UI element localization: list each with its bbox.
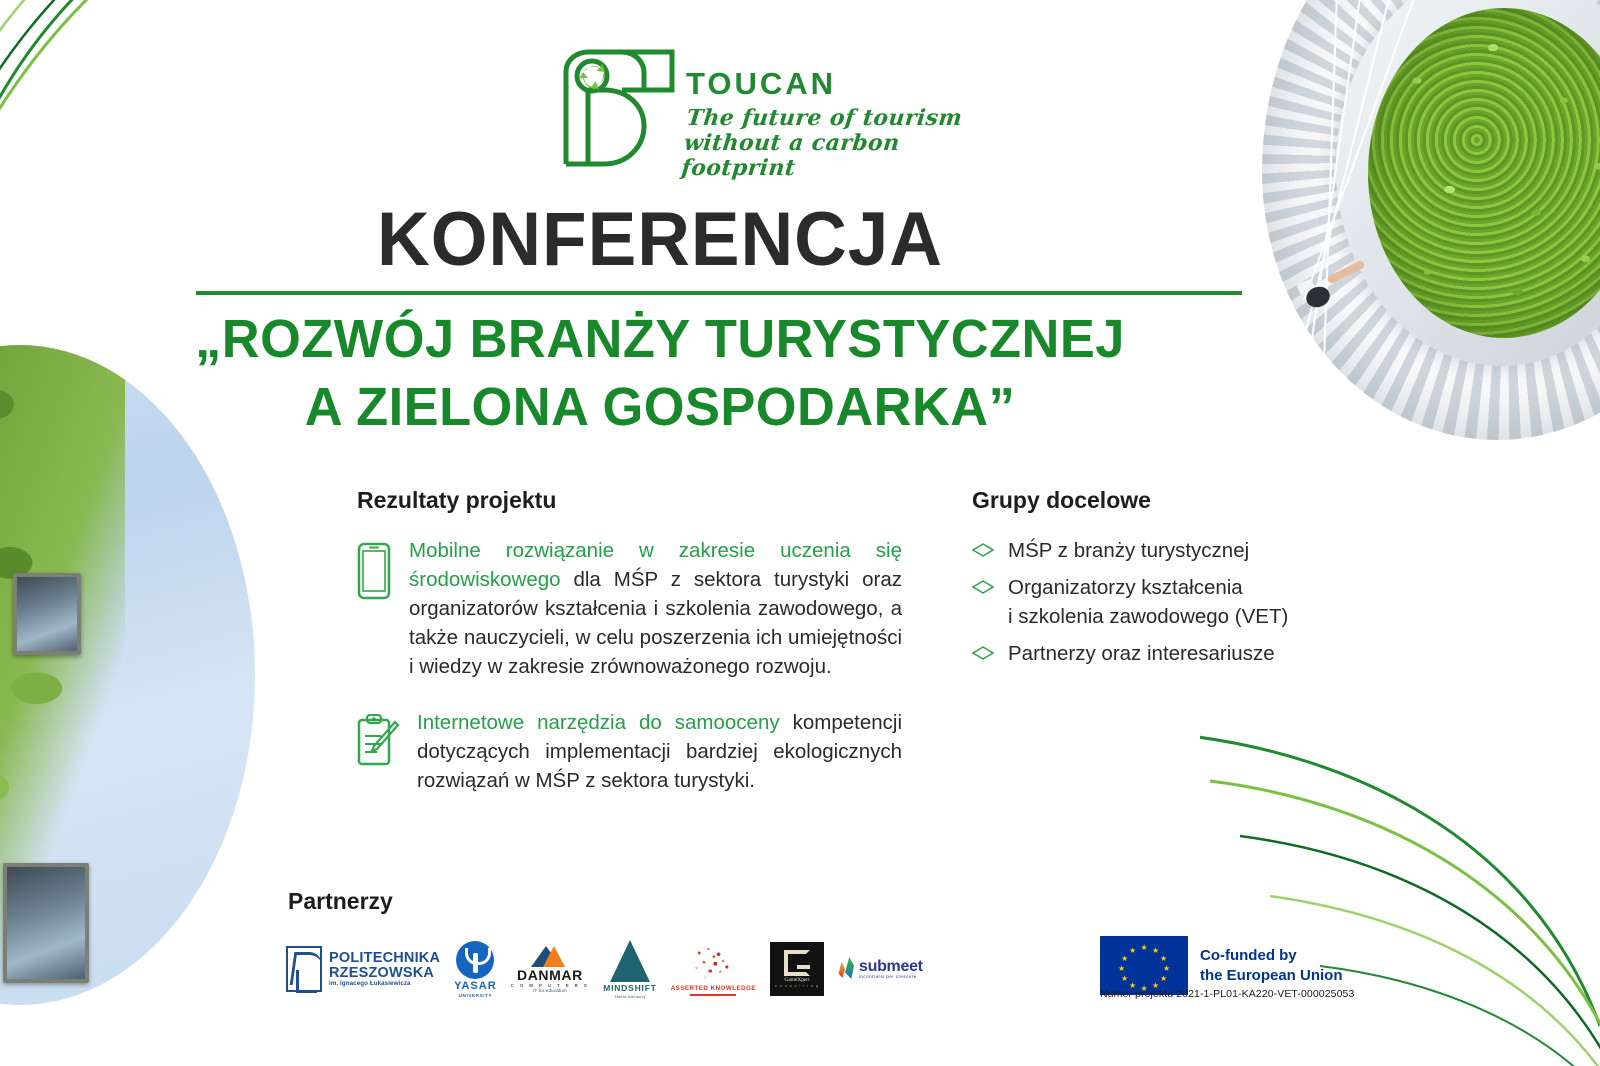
yasar-emblem-icon: [456, 941, 494, 979]
partner-line1: POLITECHNIKA: [329, 951, 440, 966]
divider: [690, 994, 736, 996]
target-groups-section: Grupy docelowe MŚP z branży turystycznej…: [972, 487, 1302, 676]
mobile-phone-icon: [357, 542, 391, 605]
toucan-logo: TOUCAN The future of tourism without a c…: [548, 46, 968, 176]
target-group-line2: i szkolenia zawodowego (VET): [1008, 605, 1288, 628]
title-divider: [196, 291, 1242, 295]
eu-funding-line1: Co-funded by: [1200, 947, 1297, 964]
partner-line2: incontrarsi per crescere: [859, 975, 923, 980]
result-highlight: Internetowe narzędzia do samooceny: [417, 711, 780, 734]
danmar-peak-icon: [527, 945, 573, 967]
page-subtitle: „ROZWÓJ BRANŻY TURYSTYCZNEJ A ZIELONA GO…: [20, 306, 1300, 441]
brand-tagline-line2: without a carbon footprint: [680, 130, 901, 181]
partners-heading: Partnerzy: [288, 888, 393, 915]
partner-line3: im. Ignacego Łukasiewicza: [329, 981, 440, 988]
partner-line1: DANMAR: [517, 967, 583, 983]
partner-line2: UNIVERSITY: [459, 993, 493, 998]
diamond-outline-icon: [972, 580, 994, 599]
partner-line1: submeet: [859, 959, 923, 975]
target-group-label: Partnerzy oraz interesariusze: [1008, 639, 1275, 668]
partners-logo-row: POLITECHNIKA RZESZOWSKA im. Ignacego Łuk…: [286, 930, 906, 1008]
list-item: Partnerzy oraz interesariusze: [972, 639, 1302, 668]
target-group-label: MŚP z branży turystycznej: [1008, 536, 1249, 565]
partner-logo-submeet: submeet incontrarsi per crescere: [838, 957, 923, 981]
project-number: Numer projektu 2021-1-PL01-KA220-VET-000…: [1100, 988, 1354, 1000]
clipboard-pencil-icon: [357, 714, 399, 771]
submeet-figures-icon: [838, 957, 856, 981]
target-groups-heading: Grupy docelowe: [972, 487, 1302, 514]
eu-funding-text: Co-funded by the European Union: [1200, 946, 1343, 985]
partner-logo-politechnika-rzeszowska: POLITECHNIKA RZESZOWSKA im. Ignacego Łuk…: [286, 946, 440, 992]
partner-line2: c o n s u l t i n g: [775, 984, 819, 988]
partner-line1: ASSERTED KNOWLEDGE: [671, 985, 756, 992]
eu-funding-block: ★ ★ ★ ★ ★ ★ ★ ★ ★ ★ ★ ★ Co-funded by the…: [1100, 936, 1343, 995]
results-heading: Rezultaty projektu: [357, 487, 902, 514]
eu-funding-line2: the European Union: [1200, 967, 1343, 984]
partner-line2: Talent Advisory: [614, 994, 645, 999]
partner-logo-danmar-computers: DANMAR C O M P U T E R S IT for educatio…: [511, 945, 590, 993]
result-item: Internetowe narzędzia do samooceny kompe…: [357, 708, 902, 795]
gamexpert-g-icon: [784, 950, 810, 976]
partner-logo-gamexpert-consulting: GameXpert c o n s u l t i n g: [770, 942, 824, 996]
conference-poster: TOUCAN The future of tourism without a c…: [0, 0, 1600, 1066]
partner-line1: GameXpert: [784, 977, 809, 983]
brand-tagline-line1: The future of tourism: [685, 105, 963, 131]
partner-line3: IT for education: [533, 988, 567, 993]
diamond-outline-icon: [972, 543, 994, 562]
partner-line1: YASAR: [454, 980, 497, 992]
toucan-bird-recycle-icon: [548, 46, 680, 172]
target-group-label: Organizatorzy kształcenia i szkolenia za…: [1008, 573, 1288, 631]
subtitle-line1: „ROZWÓJ BRANŻY TURYSTYCZNEJ: [195, 309, 1125, 369]
mindshift-triangle-icon: [610, 940, 650, 982]
page-title: KONFERENCJA: [26, 196, 1293, 283]
partner-logo-mindshift: MINDSHIFT Talent Advisory: [603, 940, 656, 999]
decorative-swoosh-bottom-right: [1200, 726, 1600, 1066]
partner-line1: MINDSHIFT: [603, 983, 656, 993]
target-group-line1: Organizatorzy kształcenia: [1008, 576, 1243, 599]
result-item: Mobilne rozwiązanie w zakresie uczenia s…: [357, 536, 902, 682]
list-item: Organizatorzy kształcenia i szkolenia za…: [972, 573, 1302, 631]
result-text: Internetowe narzędzia do samooceny kompe…: [417, 708, 902, 795]
brand-name: TOUCAN: [686, 66, 836, 102]
partner-line2: RZESZOWSKA: [329, 966, 440, 981]
brand-tagline: The future of tourism without a carbon f…: [680, 106, 972, 181]
asserted-knowledge-head-icon: [690, 943, 736, 983]
partner-logo-yasar-university: YASAR UNIVERSITY: [454, 941, 497, 998]
eu-flag-icon: ★ ★ ★ ★ ★ ★ ★ ★ ★ ★ ★ ★: [1100, 936, 1188, 995]
list-item: MŚP z branży turystycznej: [972, 536, 1302, 565]
target-groups-list: MŚP z branży turystycznej Organizatorzy …: [972, 536, 1302, 668]
decorative-swoosh-top-left: [0, 0, 300, 220]
partner-logo-asserted-knowledge: ASSERTED KNOWLEDGE: [671, 943, 756, 996]
diamond-outline-icon: [972, 646, 994, 665]
politechnika-mark-icon: [286, 946, 322, 992]
result-text: Mobilne rozwiązanie w zakresie uczenia s…: [409, 536, 902, 682]
results-section: Rezultaty projektu Mobilne rozwiązanie w…: [357, 487, 902, 821]
subtitle-line2: A ZIELONA GOSPODARKA”: [305, 377, 1016, 437]
